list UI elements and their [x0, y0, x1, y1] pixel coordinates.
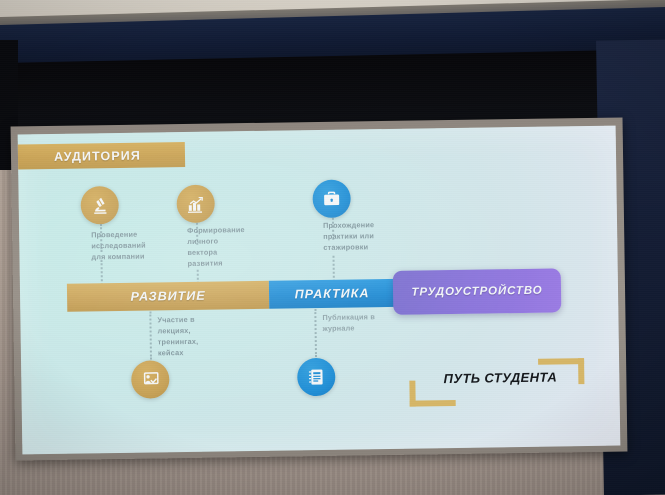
caption-line: развития — [188, 257, 268, 269]
caption-lectures: Участие в лекциях, тренингах, кейсах — [157, 313, 228, 358]
node-briefcase[interactable] — [312, 180, 351, 219]
connector-line — [149, 311, 152, 359]
projected-slide: АУДИТОРИЯ Проведение исследований для ко… — [18, 126, 621, 455]
bracket-bottom-left-h — [410, 400, 456, 407]
notebook-journal-icon — [306, 367, 326, 387]
caption-personal-vector: Формирование личного вектора развития — [187, 224, 268, 269]
presentation-teacher-icon — [140, 369, 161, 390]
connector-line — [332, 256, 334, 282]
audience-tab: АУДИТОРИЯ — [18, 142, 186, 170]
bracket-top-right-v — [578, 358, 584, 384]
caption-line: журнале — [322, 322, 398, 334]
connector-line — [314, 309, 317, 357]
timeline-segment-development[interactable]: РАЗВИТИЕ — [67, 281, 269, 312]
connector-line — [101, 260, 103, 285]
timeline-segment-employment[interactable]: ТРУДОУСТРОЙСТВО — [393, 268, 562, 314]
caption-line: стажировки — [323, 241, 401, 253]
node-lecture-participation[interactable] — [131, 360, 170, 399]
timeline-segment-practice[interactable]: ПРАКТИКА — [269, 279, 395, 309]
student-path-logo: ПУТЬ СТУДЕНТА — [409, 358, 585, 407]
microscope-icon — [89, 195, 110, 216]
caption-publication: Публикация в журнале — [322, 311, 398, 334]
logo-title: ПУТЬ СТУДЕНТА — [425, 369, 575, 386]
caption-line: кейсах — [158, 346, 228, 358]
caption-research: Проведение исследований для компании — [91, 228, 163, 262]
caption-internship: Прохождение практики или стажировки — [323, 219, 401, 253]
node-microscope[interactable] — [80, 186, 119, 225]
bracket-bottom-left-v — [409, 381, 415, 407]
briefcase-icon — [322, 189, 342, 209]
photo-scene: АУДИТОРИЯ Проведение исследований для ко… — [0, 0, 665, 495]
node-journal-publication[interactable] — [297, 358, 336, 397]
node-growth-chart[interactable] — [176, 185, 215, 224]
growth-chart-icon — [185, 193, 206, 214]
